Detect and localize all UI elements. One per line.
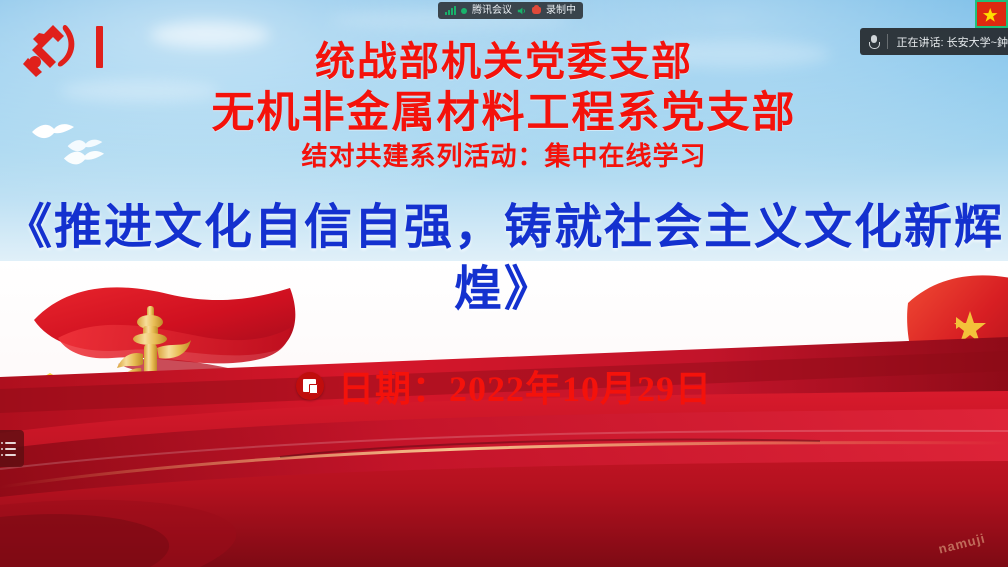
presentation-slide-screen: 统战部机关党委支部 无机非金属材料工程系党支部 结对共建系列活动：集中在线学习 … xyxy=(0,0,1008,567)
recording-label: 录制中 xyxy=(546,2,576,19)
date-row: 日期：2022年10月29日 xyxy=(0,360,1008,412)
slide-subtitle: 结对共建系列活动：集中在线学习 xyxy=(0,141,1008,171)
date-value: 2022年10月29日 xyxy=(449,369,712,409)
date-label: 日期： xyxy=(338,369,449,409)
microphone-icon xyxy=(869,35,878,48)
active-speaker-bar: 正在讲话: 长安大学~鈡 xyxy=(860,28,1008,55)
divider xyxy=(887,34,888,49)
speaker-icon xyxy=(517,6,527,16)
china-flag-video-tile[interactable] xyxy=(975,0,1008,28)
green-status-dot-icon xyxy=(461,8,467,14)
list-menu-icon[interactable] xyxy=(0,430,24,467)
calendar-date-icon xyxy=(296,372,324,400)
org-line-1: 统战部机关党委支部 xyxy=(0,40,1008,84)
meeting-app-label: 腾讯会议 xyxy=(472,2,512,19)
record-icon xyxy=(532,7,541,14)
date-text: 日期：2022年10月29日 xyxy=(338,360,712,412)
page-title: 《推进文化自信自强，铸就社会主义文化新辉煌》 xyxy=(0,197,1008,321)
meeting-status-pill[interactable]: 腾讯会议 录制中 xyxy=(438,2,583,19)
active-speaker-label: 正在讲话: 长安大学~鈡 xyxy=(896,34,1008,50)
signal-bars-icon xyxy=(445,6,456,15)
org-line-2: 无机非金属材料工程系党支部 xyxy=(0,90,1008,136)
